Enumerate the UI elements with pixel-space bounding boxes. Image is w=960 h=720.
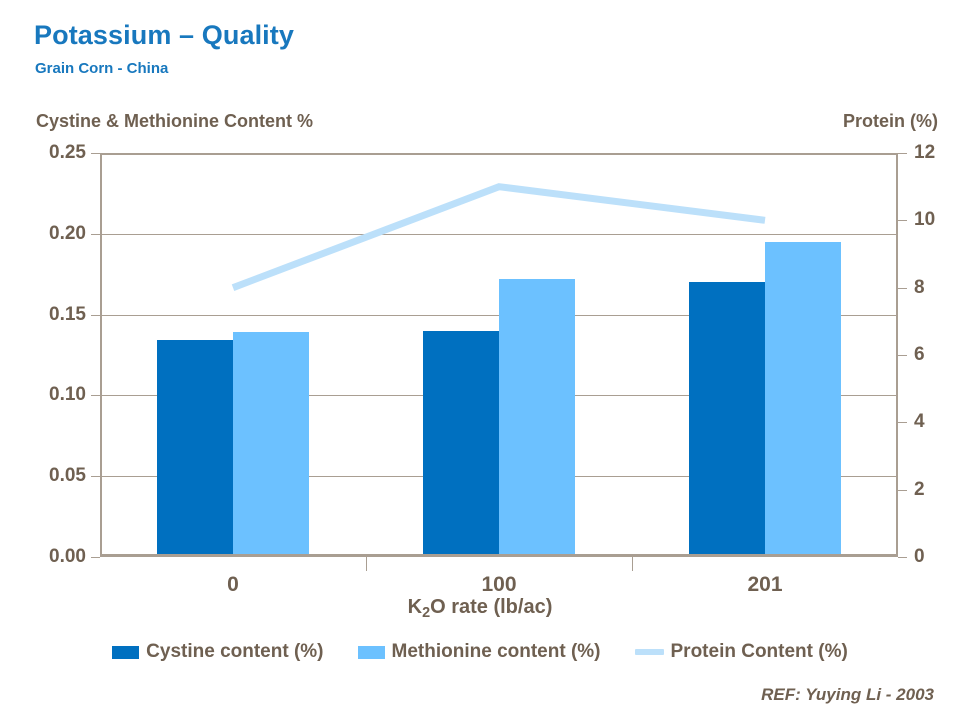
y-axis-tick-right	[898, 490, 907, 491]
chart-legend: Cystine content (%)Methionine content (%…	[0, 641, 960, 663]
y-axis-label-right: 4	[914, 411, 925, 433]
y-axis-label-right: 2	[914, 479, 925, 501]
y-axis-label-left: 0.20	[49, 223, 86, 245]
y-axis-tick-right	[898, 153, 907, 154]
left-axis-title: Cystine & Methionine Content %	[36, 111, 313, 132]
legend-swatch-icon	[635, 649, 664, 655]
x-axis-title-subscript: 2	[422, 605, 430, 621]
legend-item[interactable]: Methionine content (%)	[358, 641, 601, 663]
x-axis-title: K2O rate (lb/ac)	[0, 596, 960, 619]
y-axis-tick-right	[898, 220, 907, 221]
legend-swatch-icon	[358, 646, 385, 659]
y-axis-label-right: 0	[914, 546, 925, 568]
x-axis-tick	[366, 557, 367, 571]
y-axis-tick-left	[91, 315, 100, 316]
legend-item[interactable]: Cystine content (%)	[112, 641, 323, 663]
legend-swatch-icon	[112, 646, 139, 659]
y-axis-label-right: 12	[914, 142, 935, 164]
x-axis-label-201: 201	[747, 573, 782, 597]
y-axis-label-left: 0.10	[49, 384, 86, 406]
x-axis-tick	[632, 557, 633, 571]
y-axis-label-left: 0.00	[49, 546, 86, 568]
page-subtitle: Grain Corn - China	[35, 60, 168, 77]
y-axis-tick-right	[898, 288, 907, 289]
y-axis-tick-left	[91, 395, 100, 396]
y-axis-label-left: 0.15	[49, 304, 86, 326]
y-axis-label-right: 6	[914, 344, 925, 366]
legend-item[interactable]: Protein Content (%)	[635, 641, 848, 663]
y-axis-tick-left	[91, 153, 100, 154]
reference-note: REF: Yuying Li - 2003	[761, 685, 934, 705]
y-axis-tick-right	[898, 557, 907, 558]
y-axis-label-left: 0.05	[49, 465, 86, 487]
y-axis-tick-left	[91, 476, 100, 477]
x-axis-label-100: 100	[481, 573, 516, 597]
page-title: Potassium – Quality	[34, 20, 294, 51]
y-axis-tick-right	[898, 355, 907, 356]
y-axis-label-right: 10	[914, 209, 935, 231]
legend-label: Protein Content (%)	[671, 641, 848, 663]
y-axis-tick-left	[91, 234, 100, 235]
right-axis-title: Protein (%)	[843, 111, 938, 132]
x-axis-label-0: 0	[227, 573, 239, 597]
legend-label: Methionine content (%)	[392, 641, 601, 663]
x-axis-title-suffix: O rate (lb/ac)	[430, 596, 552, 618]
y-axis-label-left: 0.25	[49, 142, 86, 164]
y-axis-tick-left	[91, 557, 100, 558]
x-axis-title-prefix: K	[408, 596, 422, 618]
chart-plot-area: 0.000.050.100.150.200.25024681012 010020…	[100, 153, 898, 557]
y-axis-tick-right	[898, 422, 907, 423]
legend-label: Cystine content (%)	[146, 641, 323, 663]
y-axis-label-right: 8	[914, 277, 925, 299]
plot-frame	[100, 153, 898, 557]
